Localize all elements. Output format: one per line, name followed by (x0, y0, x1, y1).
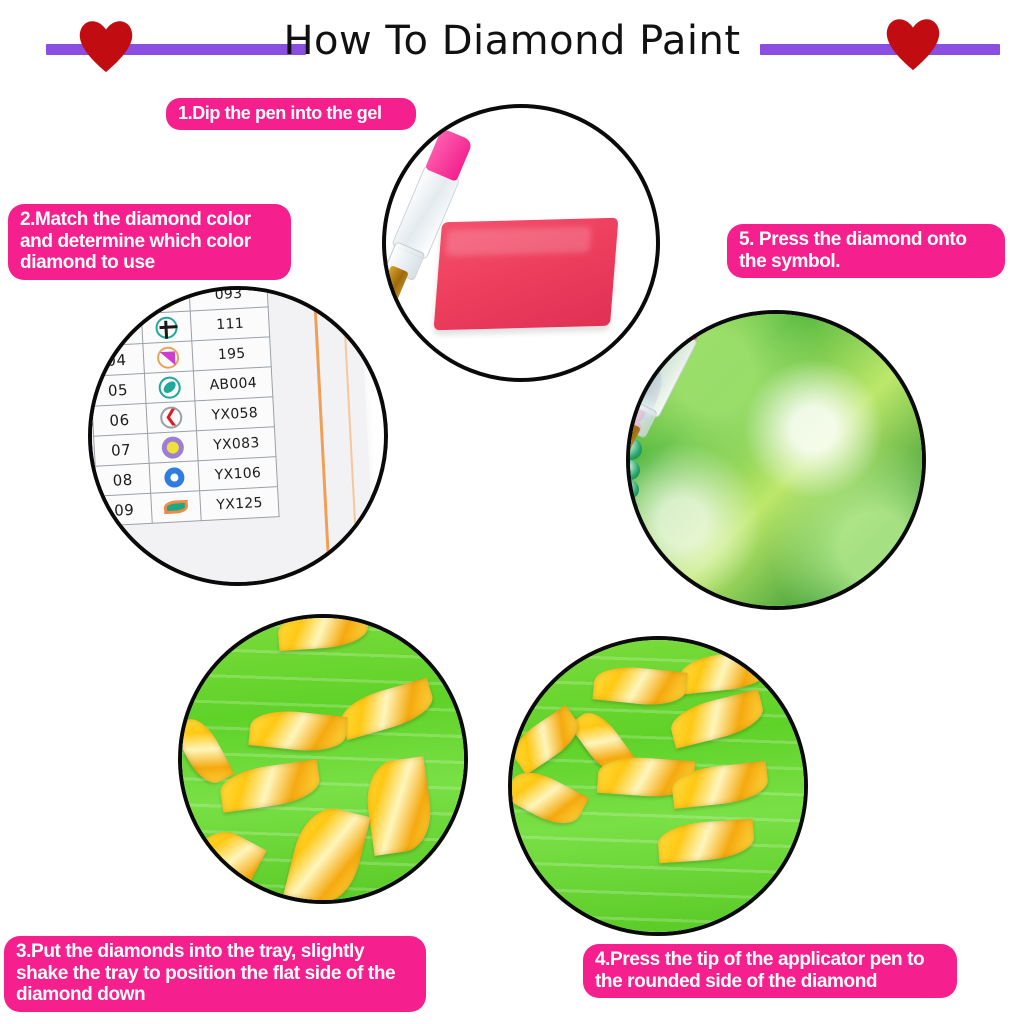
diamond (592, 663, 687, 708)
diamond (508, 763, 589, 834)
diamond (218, 759, 323, 813)
legend-value: YX125 (200, 487, 279, 521)
page-title: How To Diamond Paint (0, 18, 1024, 64)
red-chevron-icon: ❮ (160, 406, 183, 429)
green-tray (508, 636, 808, 936)
diamond (178, 712, 234, 790)
legend-symbol-cell (144, 371, 195, 404)
photo-pen-press-diamond (508, 636, 808, 936)
legend-symbol-cell (142, 341, 193, 374)
teal-ellipse-icon (158, 376, 181, 399)
diamond (678, 649, 771, 694)
cross-icon (155, 316, 178, 339)
step-label-1: 1.Dip the pen into the gel (166, 98, 416, 130)
pen-tip (382, 265, 409, 311)
paper-edge-line (339, 286, 362, 586)
blue-donut-icon (164, 467, 185, 488)
legend-value: YX106 (198, 457, 277, 491)
legend-symbol-cell: ❮ (145, 401, 196, 434)
legend-code: 02 (88, 286, 141, 316)
photo-symbol-legend: 028 02 093 (88, 286, 388, 586)
step-label-4: 4.Press the tip of the applicator pen to… (583, 944, 957, 998)
legend-symbol-cell (139, 286, 190, 314)
legend-symbol-cell (141, 311, 192, 344)
legend-table: 028 02 093 (88, 286, 280, 527)
photo-diamonds-in-tray (178, 614, 468, 904)
legend-value: YX083 (197, 427, 276, 461)
legend-paper: 028 02 093 (88, 286, 378, 586)
legend-code: 03 (88, 314, 142, 347)
step-label-3: 3.Put the diamonds into the tray, slight… (4, 936, 426, 1012)
green-tray (178, 614, 468, 904)
legend-symbol-cell (150, 491, 201, 524)
legend-code: 04 (89, 344, 144, 377)
legend-value: YX058 (195, 397, 274, 431)
legend-value: 195 (192, 337, 271, 371)
yellow-disc-icon (161, 436, 184, 459)
gel-pad (434, 218, 619, 331)
legend-code: 06 (92, 403, 147, 436)
legend-symbol-cell (147, 431, 198, 464)
photo-press-diamond-on-symbol (626, 310, 926, 610)
legend-symbol-cell (149, 461, 200, 494)
step-label-2: 2.Match the diamond color and determine … (8, 204, 291, 280)
diamond (178, 820, 267, 904)
infographic-canvas: How To Diamond Paint 1.Dip the pen into … (0, 0, 1024, 1024)
diamond (667, 689, 767, 749)
diamond (248, 707, 347, 755)
legend-code: 09 (97, 493, 152, 526)
photo-pen-dip-gel (382, 104, 660, 382)
diamond (277, 614, 369, 651)
step-label-5: 5. Press the diamond onto the symbol. (727, 224, 1005, 278)
diamond (657, 819, 755, 864)
paper-edge-line (310, 286, 334, 586)
legend-value: 111 (191, 307, 270, 341)
diamond (337, 678, 438, 740)
legend-code: 07 (94, 433, 149, 466)
diamond (362, 756, 436, 856)
purple-triangle-icon (153, 286, 176, 309)
diamond (283, 801, 370, 904)
diamond (508, 705, 586, 775)
legend-value: AB004 (194, 367, 273, 401)
magenta-triangle-icon (156, 346, 179, 369)
legend-code: 08 (95, 463, 150, 496)
teal-leaf-icon (164, 500, 189, 514)
legend-code: 05 (90, 373, 145, 406)
